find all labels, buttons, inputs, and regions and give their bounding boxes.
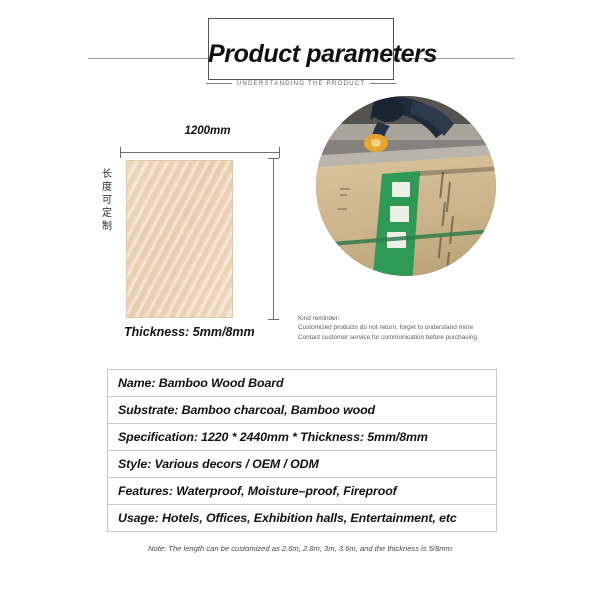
kind-reminder-note: Kind reminder: Customized products do no… <box>298 314 528 342</box>
page-header: Product parameters UNDERSTANDING THE PRO… <box>0 18 600 84</box>
width-axis <box>120 152 280 153</box>
footer-note: Note: The length can be customized as 2.… <box>0 544 600 553</box>
width-tick-right <box>279 147 280 158</box>
table-row: Substrate: Bamboo charcoal, Bamboo wood <box>108 397 496 424</box>
photo-illustration <box>316 96 496 276</box>
header-rule-left <box>88 58 210 59</box>
table-row: Specification: 1220 * 2440mm * Thickness… <box>108 424 496 451</box>
table-row: Style: Various decors / OEM / ODM <box>108 451 496 478</box>
width-dimension-line <box>120 146 280 158</box>
table-row: Name: Bamboo Wood Board <box>108 370 496 397</box>
length-tick-bottom <box>268 319 279 320</box>
length-dimension-line <box>267 158 281 320</box>
thickness-label: Thickness: 5mm/8mm <box>124 325 255 339</box>
subtitle-dash-right <box>370 83 396 84</box>
subtitle-dash-left <box>206 83 232 84</box>
page-title: Product parameters <box>208 40 394 69</box>
width-dimension-label: 1200mm <box>100 125 315 137</box>
page-subtitle: UNDERSTANDING THE PRODUCT <box>237 80 366 87</box>
table-row: Features: Waterproof, Moisture–proof, Fi… <box>108 478 496 505</box>
reminder-line-3: Contact customer service for communicati… <box>298 333 528 342</box>
length-tick-top <box>268 158 279 159</box>
board-diagram: 1200mm 长度可定制 Thickness: 5mm/8mm <box>100 128 315 358</box>
length-axis <box>273 158 274 320</box>
reminder-line-2: Customized products do not return, forge… <box>298 323 528 332</box>
width-tick-left <box>120 147 121 158</box>
bamboo-board-swatch <box>126 160 233 318</box>
table-row: Usage: Hotels, Offices, Exhibition halls… <box>108 505 496 532</box>
length-dimension-label: 长度可定制 <box>98 164 116 237</box>
product-packing-photo <box>316 96 496 276</box>
reminder-line-1: Kind reminder: <box>298 314 528 323</box>
page-subtitle-group: UNDERSTANDING THE PRODUCT <box>208 80 394 87</box>
width-dimension-value: 1200mm <box>179 125 235 137</box>
specification-table: Name: Bamboo Wood Board Substrate: Bambo… <box>107 369 497 532</box>
